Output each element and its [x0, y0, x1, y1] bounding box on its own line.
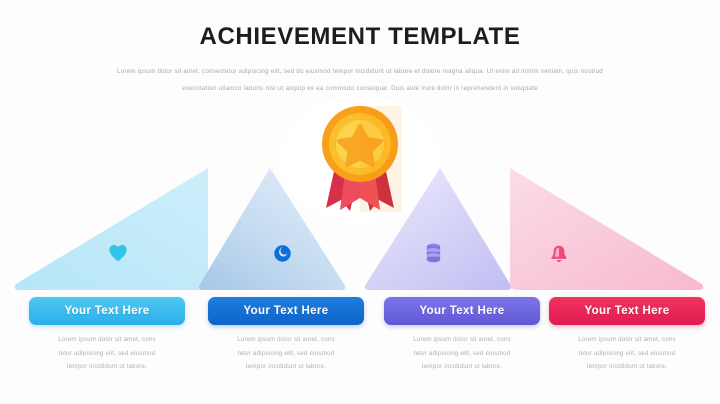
card-2-body-text: Lorem ipsum dolor sit amet, cons tetur a…	[200, 333, 372, 374]
pillar-3-shape	[362, 168, 514, 290]
subtitle-paragraph: Lorem ipsum dolor sit amet, consectetur …	[40, 51, 680, 97]
card-1-body-line-3: tempor incididunt ut labore.	[21, 360, 193, 374]
card-2-body-line-2: tetur adipiscing elit, sed eiusmod	[200, 347, 372, 361]
card-4-button[interactable]: Your Text Here	[549, 297, 705, 325]
card-4-body-text: Lorem ipsum dolor sit amet, cons tetur a…	[541, 333, 713, 374]
card-3-body-line-1: Lorem ipsum dolor sit amet, cons	[376, 333, 548, 347]
page-title: ACHIEVEMENT TEMPLATE	[0, 0, 720, 51]
card-3-button[interactable]: Your Text Here	[384, 297, 540, 325]
card-4-body-line-1: Lorem ipsum dolor sit amet, cons	[541, 333, 713, 347]
card-3-body-text: Lorem ipsum dolor sit amet, cons tetur a…	[376, 333, 548, 374]
database-icon	[422, 242, 444, 264]
pillar-3[interactable]	[362, 168, 514, 290]
pillar-4[interactable]	[506, 168, 706, 290]
header: ACHIEVEMENT TEMPLATE Lorem ipsum dolor s…	[0, 0, 720, 97]
subtitle-line-2: exercitation ullamco laboris nisi ut ali…	[40, 80, 680, 97]
card-4-body-line-3: tempor incididunt ut labore.	[541, 360, 713, 374]
card-1-body-text: Lorem ipsum dolor sit amet, cons tetur a…	[21, 333, 193, 374]
card-3-body-line-2: tetur adipiscing elit, sed eiusmod	[376, 347, 548, 361]
pillar-1[interactable]	[12, 168, 208, 290]
pillar-2-shape	[196, 168, 348, 290]
subtitle-line-1: Lorem ipsum dolor sit amet, consectetur …	[40, 63, 680, 80]
buttons-row: Your Text Here Your Text Here Your Text …	[0, 297, 720, 327]
pillars-group	[0, 168, 720, 293]
card-2-button[interactable]: Your Text Here	[208, 297, 364, 325]
card-1-button[interactable]: Your Text Here	[29, 297, 185, 325]
card-2-body-line-1: Lorem ipsum dolor sit amet, cons	[200, 333, 372, 347]
card-4-body-line-2: tetur adipiscing elit, sed eiusmod	[541, 347, 713, 361]
pillar-1-shape	[12, 168, 208, 290]
bell-icon	[548, 242, 570, 264]
card-3-body-line-3: tempor incididunt ut labore.	[376, 360, 548, 374]
card-1-body-line-2: tetur adipiscing elit, sed eiusmod	[21, 347, 193, 361]
globe-icon	[271, 242, 293, 264]
heart-icon	[107, 242, 129, 264]
pillar-2[interactable]	[196, 168, 348, 290]
pillar-4-shape	[506, 168, 706, 290]
card-2-body-line-3: tempor incididunt ut labore.	[200, 360, 372, 374]
card-1-body-line-1: Lorem ipsum dolor sit amet, cons	[21, 333, 193, 347]
